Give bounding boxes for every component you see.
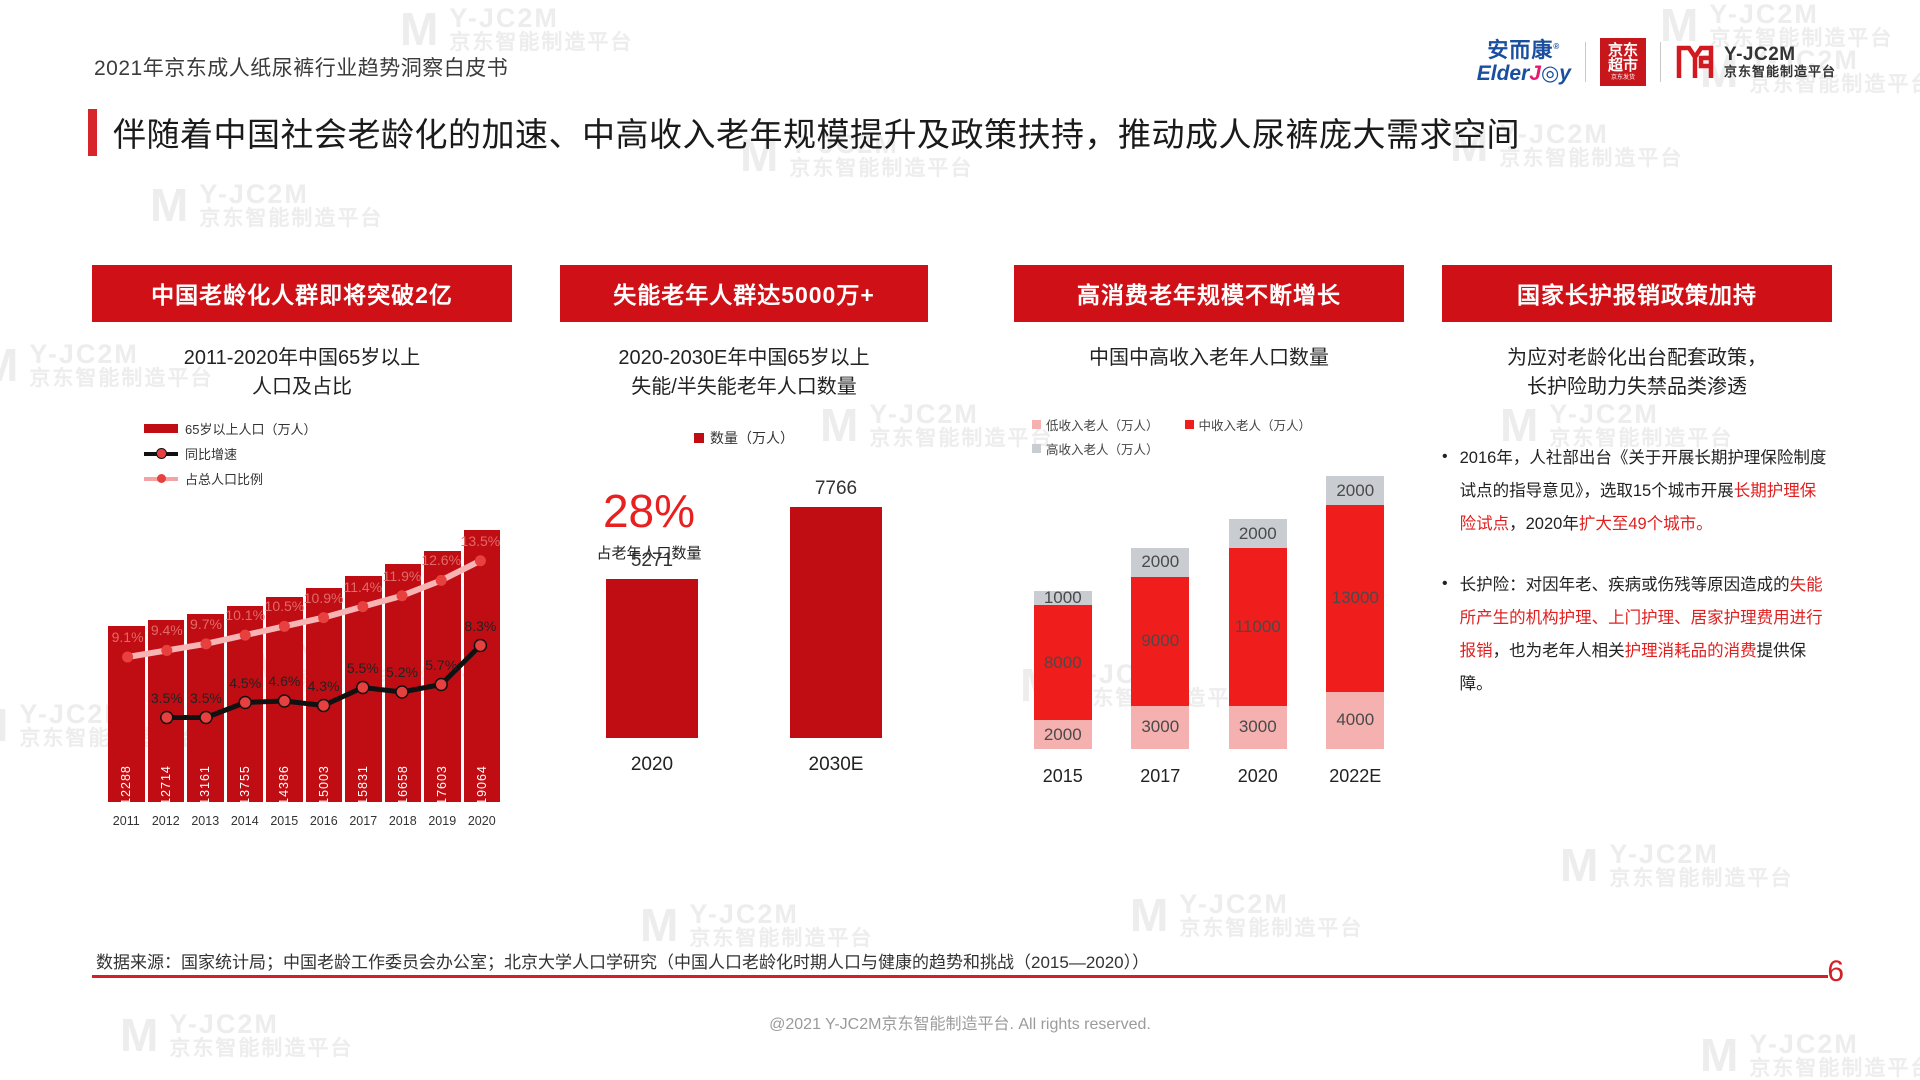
chart2-bar-value: 7766 [815,478,857,500]
chart3-segment-mid: 13000 [1326,505,1384,692]
chart3-x-label: 2017 [1131,766,1189,787]
chart3-legend: 低收入老人（万人） 中收入老人（万人） 高收入老人（万人） [1014,415,1404,458]
legend-swatch-bar-icon [144,424,178,433]
chart3-segment-low: 2000 [1034,720,1092,749]
chart1-bar-value: 15831 [356,765,370,805]
legend-item: 65岁以上人口（万人） [144,419,512,438]
chart3-segment-value: 2000 [1239,524,1277,544]
chart1-bars: 1228812714131611375514386150031583116658… [108,502,500,802]
chart1-x-label: 2014 [227,814,264,828]
chart1-bar-value: 14386 [277,765,291,805]
chart3-bars: 1000800020002000900030002000110003000200… [1014,469,1404,749]
chart1-bar-value: 15003 [317,765,331,805]
yjc2m-mark-icon [1675,42,1715,82]
chart1-bar: 15003 [306,588,343,802]
panel-policy: 国家长护报销政策加持 为应对老龄化出台配套政策， 长护险助力失禁品类渗透 •20… [1442,265,1832,729]
headline-accent-bar [88,109,97,156]
bullet-text: 2016年，人社部出台《关于开展长期护理保险制度试点的指导意见》，选取15个城市… [1460,442,1832,541]
chart3-segment-value: 3000 [1239,717,1277,737]
yjc2m-cn-label: 京东智能制造平台 [1724,65,1836,80]
headline-text: 伴随着中国社会老龄化的加速、中高收入老年规模提升及政策扶持，推动成人尿裤庞大需求… [113,108,1520,156]
panel-income-elderly: 高消费老年规模不断增长 中国中高收入老年人口数量 低收入老人（万人） 中收入老人… [1014,265,1404,793]
copyright-text: @2021 Y-JC2M京东智能制造平台. All rights reserve… [0,1010,1920,1034]
legend-label: 同比增速 [185,444,237,463]
chart1-bar: 14386 [266,597,303,803]
watermark: M Y-JC2M京东智能制造平台 [1130,890,1363,940]
chart1-x-label: 2020 [464,814,501,828]
headline-block: 伴随着中国社会老龄化的加速、中高收入老年规模提升及政策扶持，推动成人尿裤庞大需求… [88,108,1520,156]
chart3-segment-value: 11000 [1235,617,1281,637]
chart1-bar-value: 19064 [475,765,489,805]
chart2-bars: 52717766 [560,478,928,738]
chart3-x-label: 2022E [1326,766,1384,787]
yjc2m-logo: Y-JC2M 京东智能制造平台 [1675,42,1836,82]
chart3-segment-mid: 8000 [1034,605,1092,720]
legend-swatch-icon [694,433,704,443]
legend-item: 中收入老人（万人） [1185,415,1312,434]
panel2-caption: 失能老年人群达5000万+ [560,265,928,322]
chart1-bar: 16658 [385,564,422,802]
legend-item: 占总人口比例 [144,469,512,488]
elderjoy-en-j: J [1529,62,1541,85]
page-title: 2021年京东成人纸尿裤行业趋势洞察白皮书 [94,52,508,82]
panel1-subtitle: 2011-2020年中国65岁以上 人口及占比 [92,344,512,402]
panel1-caption: 中国老龄化人群即将突破2亿 [92,265,512,322]
chart2-bar [790,507,882,738]
chart1-x-label: 2015 [266,814,303,828]
legend-item: 同比增速 [144,444,512,463]
chart1-x-axis: 2011201220132014201520162017201820192020 [108,814,500,828]
chart1-legend: 65岁以上人口（万人） 同比增速 占总人口比例 [144,419,512,488]
chart1-bar: 17603 [424,551,461,802]
chart1-bar-value: 13755 [238,765,252,805]
panel2-subtitle: 2020-2030E年中国65岁以上 失能/半失能老年人口数量 [560,344,928,402]
chart1-x-label: 2018 [385,814,422,828]
chart-income-elderly: 1000800020002000900030002000110003000200… [1014,463,1404,793]
bullet-text: 长护险：对因年老、疾病或伤残等原因造成的失能所产生的机构护理、上门护理、居家护理… [1460,569,1832,701]
chart3-segment-value: 2000 [1044,725,1082,745]
chart2-column: 5271 [606,478,698,738]
chart2-bar [606,579,698,738]
chart1-bar: 15831 [345,576,382,802]
logo-group: 安而康® ElderJ◎y 京东 超市 京东发货 Y-JC2M 京东智能制造平台 [1477,38,1836,86]
legend-swatch-line-pink-icon [144,477,178,481]
chart1-bar: 19064 [464,530,501,802]
chart3-segment-low: 3000 [1131,706,1189,749]
chart1-bar: 13755 [227,606,264,803]
chart3-segment-value: 4000 [1336,710,1374,730]
elderjoy-en-text: Elder [1477,62,1530,85]
chart1-bar: 12288 [108,626,145,802]
chart1-plot: 1228812714131611375514386150031583116658… [108,502,500,802]
legend-swatch-high-icon [1032,444,1041,453]
watermark: M Y-JC2M京东智能制造平台 [640,900,873,950]
data-source-note: 数据来源：国家统计局；中国老龄工作委员会办公室；北京大学人口学研究（中国人口老龄… [96,948,1149,973]
chart3-segment-low: 4000 [1326,692,1384,749]
policy-bullet: •长护险：对因年老、疾病或伤残等原因造成的失能所产生的机构护理、上门护理、居家护… [1442,569,1832,701]
chart-aging-population: 1228812714131611375514386150031583116658… [92,498,512,838]
panel-aging-population: 中国老龄化人群即将突破2亿 2011-2020年中国65岁以上 人口及占比 65… [92,265,512,838]
legend-label: 低收入老人（万人） [1046,415,1159,434]
legend-label: 中收入老人（万人） [1199,415,1312,434]
chart1-x-label: 2017 [345,814,382,828]
chart3-column: 2000110003000 [1229,469,1287,749]
chart2-x-label: 2030E [790,754,882,776]
legend-swatch-mid-icon [1185,420,1194,429]
legend-item: 高收入老人（万人） [1032,439,1159,458]
chart1-bar: 13161 [187,614,224,802]
chart3-column: 100080002000 [1034,469,1092,749]
chart1-bar-value: 16658 [396,765,410,805]
chart3-segment-mid: 11000 [1229,548,1287,706]
chart1-bar-value: 12714 [159,765,173,805]
elderjoy-cn-text: 安而康 [1487,39,1553,62]
chart3-x-label: 2020 [1229,766,1287,787]
chart3-x-label: 2015 [1034,766,1092,787]
chart3-segment-value: 13000 [1332,588,1379,608]
chart1-x-label: 2019 [424,814,461,828]
page-number: 6 [1827,955,1844,989]
elderjoy-en-y: y [1559,62,1571,85]
chart1-x-label: 2011 [108,814,145,828]
chart1-bar-value: 12288 [119,765,133,805]
chart3-segment-high: 1000 [1034,591,1092,605]
watermark: M Y-JC2M京东智能制造平台 [400,4,633,54]
divider [1660,42,1661,82]
watermark: M Y-JC2M京东智能制造平台 [1700,1030,1920,1080]
chart3-segment-value: 8000 [1044,653,1082,673]
chart3-segment-high: 2000 [1131,548,1189,577]
chart2-x-axis: 20202030E [560,754,928,776]
elderjoy-logo: 安而康® ElderJ◎y [1477,40,1571,84]
footer-divider [92,975,1828,978]
legend-swatch-line-icon [144,452,178,456]
slide-root: M Y-JC2M京东智能制造平台 M Y-JC2M京东智能制造平台 M Y-JC… [0,0,1920,1080]
chart1-x-label: 2013 [187,814,224,828]
chart3-segment-value: 3000 [1141,717,1179,737]
legend-label: 高收入老人（万人） [1046,439,1159,458]
chart2-x-label: 2020 [606,754,698,776]
chart1-x-label: 2016 [306,814,343,828]
legend-label: 数量（万人） [710,430,794,446]
chart1-bar-value: 13161 [198,765,212,805]
yjc2m-en-label: Y-JC2M [1724,44,1836,66]
policy-bullet-list: •2016年，人社部出台《关于开展长期护理保险制度试点的指导意见》，选取15个城… [1442,442,1832,701]
legend-item: 低收入老人（万人） [1032,415,1159,434]
panel3-subtitle: 中国中高收入老年人口数量 [1014,344,1404,373]
chart3-x-axis: 2015201720202022E [1014,766,1404,787]
chart1-bar: 12714 [148,620,185,802]
legend-swatch-low-icon [1032,420,1041,429]
chart-disabled-elderly: 28% 占老年人口数量 52717766 20202030E [560,454,928,784]
chart3-segment-high: 2000 [1229,519,1287,548]
watermark: M Y-JC2M京东智能制造平台 [1560,840,1793,890]
chart1-bar-value: 17603 [435,765,449,805]
chart3-column: 2000130004000 [1326,469,1384,749]
jd-supermarket-logo: 京东 超市 京东发货 [1600,38,1646,86]
chart3-segment-mid: 9000 [1131,577,1189,706]
chart1-x-label: 2012 [148,814,185,828]
legend-label: 占总人口比例 [185,469,263,488]
watermark: M Y-JC2M京东智能制造平台 [150,180,383,230]
chart3-segment-value: 9000 [1141,631,1179,651]
bullet-dot-icon: • [1442,569,1448,701]
chart3-column: 200090003000 [1131,469,1189,749]
chart3-segment-value: 2000 [1336,481,1374,501]
chart3-segment-low: 3000 [1229,706,1287,749]
legend-label: 65岁以上人口（万人） [185,419,316,438]
panel-disabled-elderly: 失能老年人群达5000万+ 2020-2030E年中国65岁以上 失能/半失能老… [560,265,928,784]
policy-bullet: •2016年，人社部出台《关于开展长期护理保险制度试点的指导意见》，选取15个城… [1442,442,1832,541]
divider [1585,42,1586,82]
bullet-dot-icon: • [1442,442,1448,541]
chart2-legend: 数量（万人） [560,428,928,448]
panel4-subtitle: 为应对老龄化出台配套政策， 长护险助力失禁品类渗透 [1442,344,1832,402]
chart2-bar-value: 5271 [631,550,673,572]
panel4-caption: 国家长护报销政策加持 [1442,265,1832,322]
chart3-segment-value: 2000 [1141,552,1179,572]
chart2-column: 7766 [790,478,882,738]
chart3-segment-high: 2000 [1326,476,1384,505]
panel3-caption: 高消费老年规模不断增长 [1014,265,1404,322]
